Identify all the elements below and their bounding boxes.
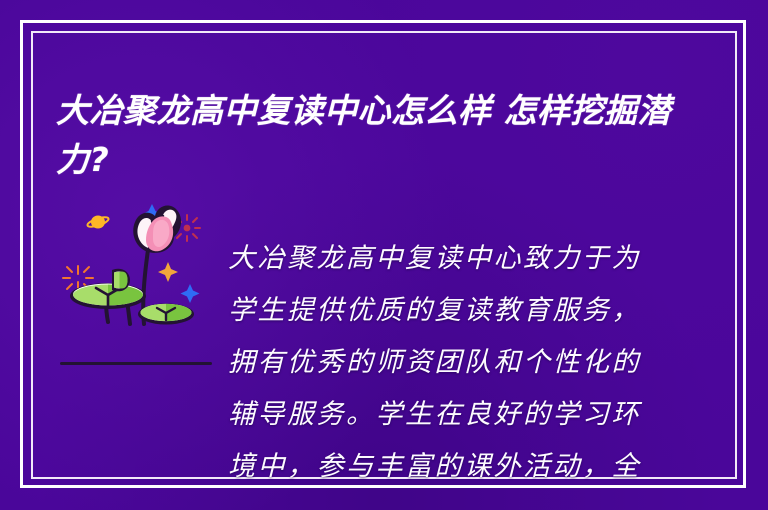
lotus-flower-icon (133, 205, 181, 252)
blue-dot-sparkle-bottom (181, 284, 200, 303)
lily-pad-right-icon (138, 304, 194, 325)
gold-diamond-sparkle (158, 262, 178, 282)
saturn-planet-sparkle (86, 215, 109, 228)
page-title: 大冶聚龙高中复读中心怎么样 怎样挖掘潜力? (56, 86, 696, 184)
article-cover-card: 大冶聚龙高中复读中心怎么样 怎样挖掘潜力? (0, 0, 768, 510)
lily-pad-left-icon (70, 283, 146, 309)
potted-lotus-flower-illustration (56, 196, 216, 376)
article-body-text: 大冶聚龙高中复读中心致力于为学生提供优质的复读教育服务，拥有优秀的师资团队和个性… (228, 233, 658, 493)
ground-line-icon (60, 362, 212, 365)
